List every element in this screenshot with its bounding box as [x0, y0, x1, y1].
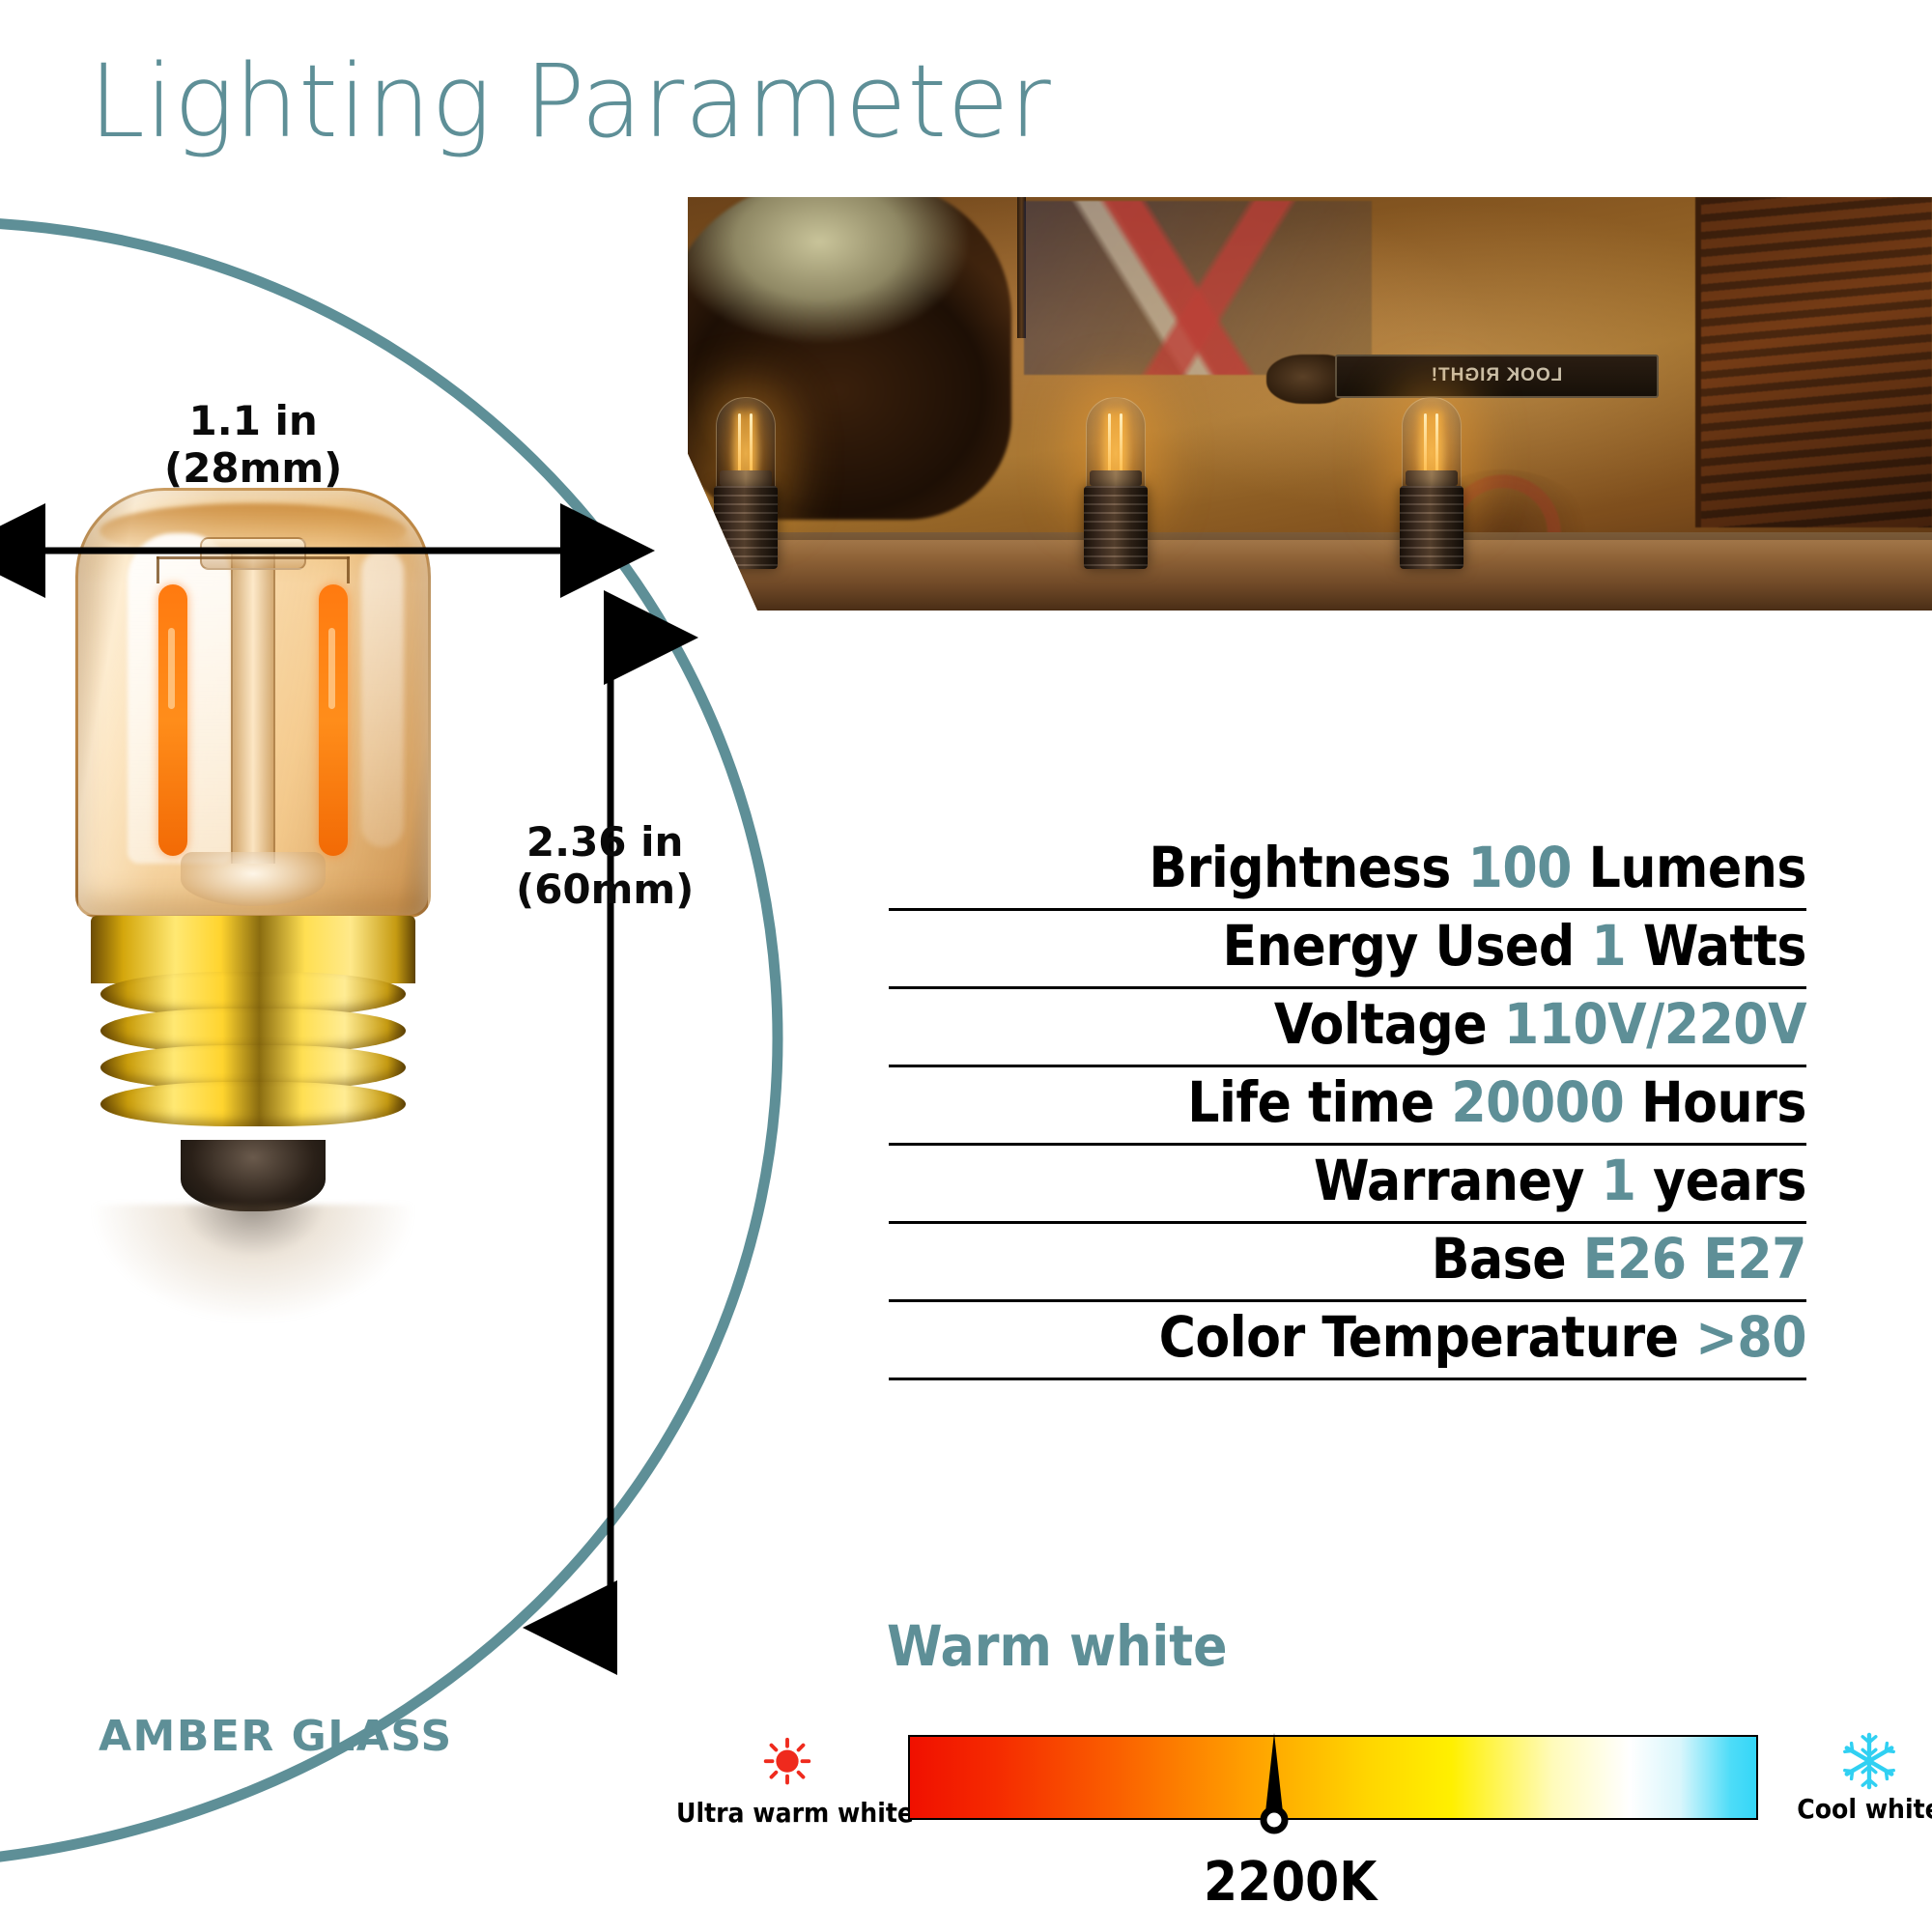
- cct-marker-value: 2200K: [1204, 1851, 1349, 1914]
- spec-list: Brightness 100 Lumens Energy Used 1 Watt…: [889, 833, 1806, 1380]
- spec-label: Life time: [1187, 1069, 1451, 1135]
- spec-value: 20000: [1451, 1069, 1641, 1135]
- bulb-pinch-seal: [181, 852, 326, 906]
- bulb-lead-wire-right: [347, 556, 350, 583]
- bulb-glass-tube: [75, 488, 431, 918]
- color-temperature-scale: Ultra warm white 2200K: [667, 1735, 1893, 1909]
- spec-row-life-time: Life time 20000 Hours: [889, 1067, 1806, 1146]
- photo-bulb-socket: [714, 486, 778, 569]
- photo-union-jack-flag: [1024, 201, 1373, 375]
- spec-suffix: Watts: [1643, 913, 1806, 979]
- width-dimension-label: 1.1 in (28mm): [164, 398, 342, 492]
- spec-value: 1: [1591, 913, 1642, 979]
- spec-row-color-temperature: Color Temperature >80: [889, 1302, 1806, 1380]
- lifestyle-photo: LOOK RIGHT! LONDON: [688, 197, 1932, 611]
- sun-icon: [757, 1735, 817, 1795]
- amber-glass-label: AMBER GLASS: [99, 1712, 453, 1761]
- spec-row-energy-used: Energy Used 1 Watts: [889, 911, 1806, 989]
- snowflake-icon: [1839, 1731, 1899, 1791]
- spec-label: Energy Used: [1223, 913, 1592, 979]
- scale-warm-end: Ultra warm white: [676, 1735, 898, 1829]
- base-thread: [100, 1082, 406, 1126]
- scale-cool-label: Cool white: [1758, 1793, 1932, 1825]
- page-title: Lighting Parameter: [89, 44, 1051, 160]
- photo-shelf-edge: [688, 532, 1932, 540]
- photo-sign-text: LOOK RIGHT!: [1431, 365, 1563, 386]
- photo-wood-shelf: [688, 532, 1932, 611]
- color-mode-label: Warm white: [887, 1613, 1228, 1679]
- bulb-gloss-highlight-secondary: [361, 550, 403, 846]
- spec-suffix: years: [1653, 1148, 1806, 1213]
- height-mm: (60mm): [516, 866, 694, 913]
- filament-highlight: [328, 628, 335, 709]
- photo-bulb-collar: [1090, 470, 1142, 486]
- spec-label: Warraney: [1314, 1148, 1602, 1213]
- spec-value: E26 E27: [1583, 1226, 1806, 1292]
- spec-label: Voltage: [1274, 991, 1504, 1057]
- spec-suffix: Lumens: [1589, 835, 1806, 900]
- bulb-glass-stem: [231, 550, 275, 864]
- width-inches: 1.1 in: [189, 397, 318, 444]
- bulb-lead-wire-left: [156, 556, 159, 583]
- bulb-lead-wire-top: [156, 556, 349, 559]
- photo-bulb-collar: [720, 470, 772, 486]
- spec-label: Base: [1432, 1226, 1583, 1292]
- photo-look-right-sign: LOOK RIGHT!: [1335, 355, 1659, 398]
- spec-value: >80: [1695, 1304, 1806, 1370]
- bulb-filament-left: [158, 584, 187, 856]
- photo-bulb-socket: [1400, 486, 1463, 569]
- bulb-stem-cap: [200, 537, 306, 570]
- base-contact-tip: [181, 1140, 326, 1211]
- spec-row-base: Base E26 E27: [889, 1224, 1806, 1302]
- spec-row-voltage: Voltage 110V/220V: [889, 989, 1806, 1067]
- spec-value: 1: [1602, 1148, 1653, 1213]
- cct-gradient-bar: [908, 1735, 1758, 1820]
- photo-bulb-socket: [1084, 486, 1148, 569]
- width-mm: (28mm): [164, 444, 342, 492]
- product-bulb-image: [60, 488, 446, 1319]
- cct-marker-pointer: [1258, 1731, 1291, 1855]
- infographic-canvas: Lighting Parameter LOOK RIGHT! LONDON: [0, 0, 1932, 1932]
- spec-suffix: Hours: [1641, 1069, 1806, 1135]
- scale-warm-label: Ultra warm white: [676, 1797, 898, 1829]
- photo-bulb-collar: [1406, 470, 1458, 486]
- spec-row-brightness: Brightness 100 Lumens: [889, 833, 1806, 911]
- bulb-filament-right: [319, 584, 348, 856]
- photo-right-poster: [1695, 197, 1932, 527]
- height-inches: 2.36 in: [526, 818, 684, 866]
- bulb-reflection: [94, 1205, 412, 1321]
- height-dimension-label: 2.36 in (60mm): [516, 819, 694, 913]
- spec-value: 100: [1468, 835, 1589, 900]
- spec-label: Brightness: [1149, 835, 1467, 900]
- filament-highlight: [168, 628, 175, 709]
- spec-row-warranty: Warraney 1 years: [889, 1146, 1806, 1224]
- spec-value: 110V/220V: [1504, 991, 1806, 1057]
- spec-label: Color Temperature: [1159, 1304, 1696, 1370]
- scale-cool-end: Cool white: [1758, 1731, 1932, 1825]
- bulb-screw-base: [91, 916, 415, 1206]
